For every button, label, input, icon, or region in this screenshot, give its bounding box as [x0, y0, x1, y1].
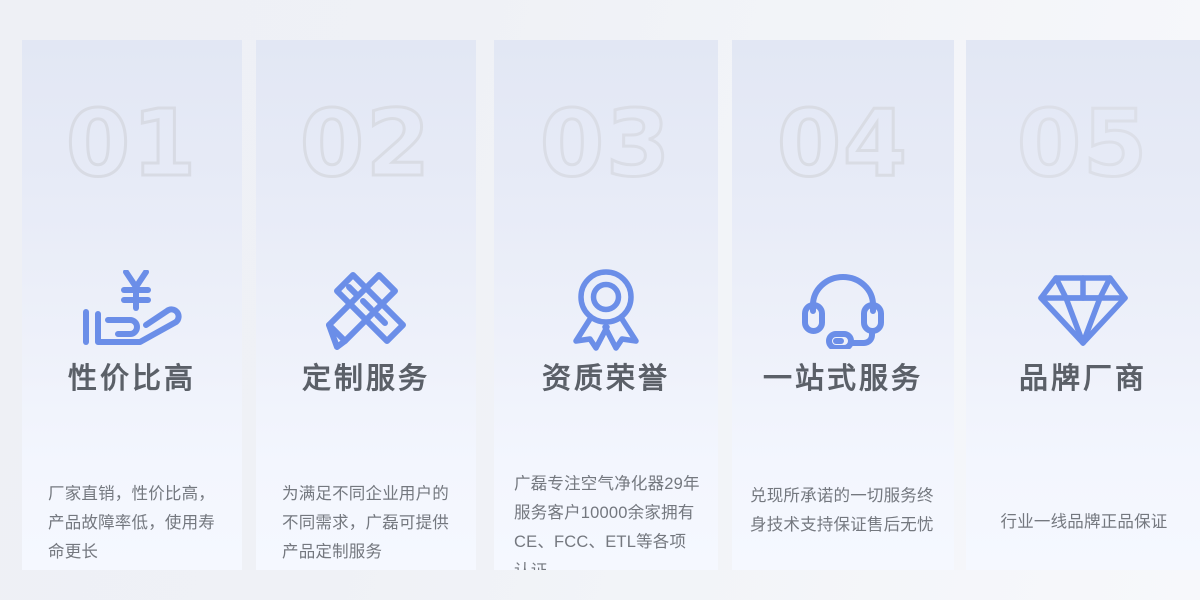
feature-card-3: 03 资质荣誉 广磊专注空气净化器29年服务客户10000余家拥有CE、FCC、…	[494, 40, 718, 570]
feature-card-5: 05 品牌厂商 行业一线品牌正品保证	[966, 40, 1200, 570]
hand-holding-yuan-icon	[22, 262, 242, 358]
award-medal-icon	[494, 262, 718, 358]
diamond-icon	[966, 262, 1200, 358]
card-title-5: 品牌厂商	[966, 362, 1200, 397]
card-number-03: 03	[494, 98, 718, 190]
feature-cards-section: 01 性价比高 厂家直销，性价比高，产品故障率低，使用寿命更长 02	[0, 0, 1200, 600]
card-title-1: 性价比高	[22, 362, 242, 397]
card-title-2: 定制服务	[256, 362, 476, 397]
card-number-01: 01	[22, 98, 242, 190]
feature-card-1: 01 性价比高 厂家直销，性价比高，产品故障率低，使用寿命更长	[22, 40, 242, 570]
card-number-04: 04	[732, 98, 954, 190]
card-title-4: 一站式服务	[732, 362, 954, 397]
card-title-3: 资质荣誉	[494, 362, 718, 397]
card-number-05: 05	[966, 98, 1200, 190]
card-number-02: 02	[256, 98, 476, 190]
card-desc-3: 广磊专注空气净化器29年服务客户10000余家拥有CE、FCC、ETL等各项认证	[514, 470, 702, 570]
feature-card-4: 04 一站式服务 兑现所承诺的一切服务终身技术支持保证售后无忧	[732, 40, 954, 570]
card-desc-2: 为满足不同企业用户的不同需求，广磊可提供产品定制服务	[282, 480, 454, 567]
card-desc-4: 兑现所承诺的一切服务终身技术支持保证售后无忧	[750, 482, 940, 540]
feature-card-2: 02 定制服务 为满足不同企业用户的不同需求，广磊可提供产品定制服务	[256, 40, 476, 570]
headset-icon	[732, 262, 954, 358]
pencil-ruler-icon	[256, 262, 476, 358]
card-desc-5: 行业一线品牌正品保证	[984, 508, 1184, 537]
card-desc-1: 厂家直销，性价比高，产品故障率低，使用寿命更长	[48, 480, 220, 567]
